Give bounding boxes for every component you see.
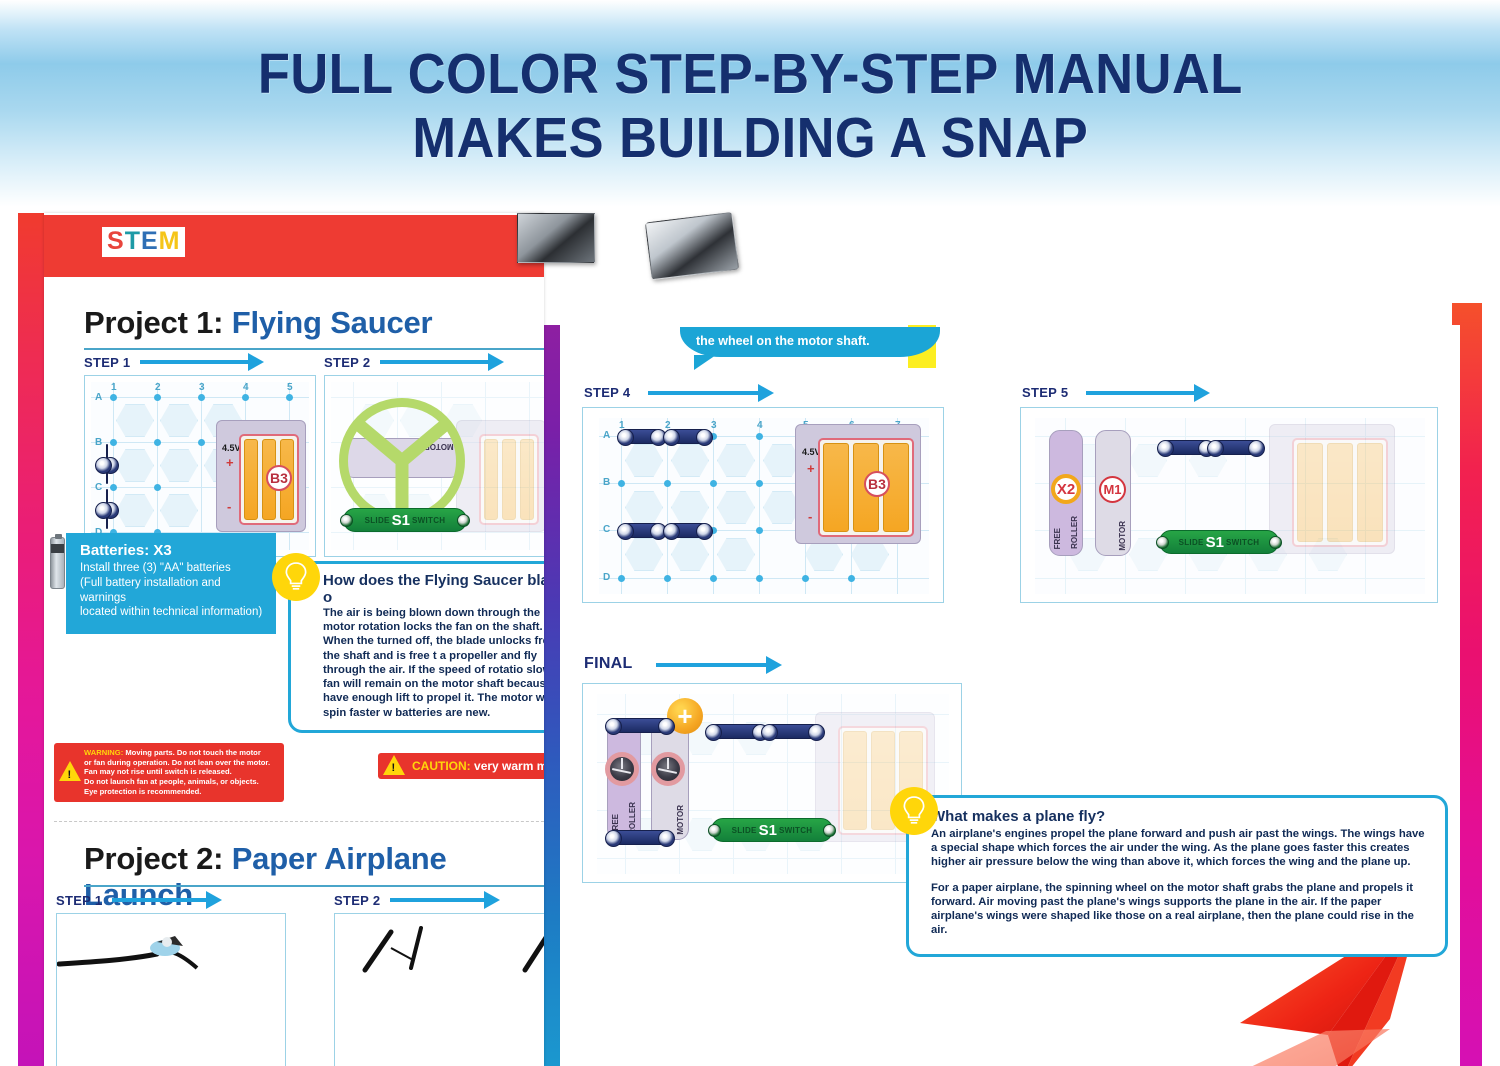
lightbulb-glyph-2	[901, 796, 927, 826]
warning-triangle-icon	[59, 761, 81, 781]
project2-title: Project 2: Paper Airplane Launch	[84, 841, 544, 913]
page-title: FULL COLOR STEP-BY-STEP MANUAL MAKES BUI…	[258, 43, 1243, 171]
r-grid-row-a: A	[603, 430, 610, 441]
manual-spread: STEM Project 1: Flying Saucer STEP 1 1	[0, 213, 1500, 1066]
manual-page-right: the wheel on the motor shaft. STEP 4 1 2…	[560, 325, 1460, 1066]
final-motor-label: MOTOR	[676, 805, 685, 835]
grid-col-2: 2	[155, 382, 161, 393]
step-arrow-2	[380, 360, 490, 364]
battery-id-b3: B3	[266, 465, 292, 491]
project1-label: Project 1:	[84, 305, 223, 340]
free-roller-id-x2: X2	[1051, 474, 1081, 504]
project2-rule	[84, 885, 544, 887]
batteries-callout-line1: Install three (3) "AA" batteries	[80, 562, 231, 574]
stem-logo: STEM	[102, 227, 185, 257]
r-grid-row-c: C	[603, 524, 610, 535]
step-arrow-5	[1086, 391, 1196, 395]
headline-line-1: FULL COLOR STEP-BY-STEP MANUAL	[258, 42, 1243, 106]
step-label-final: FINAL	[584, 655, 633, 673]
step2-panel: MOTOR SLIDE S1 SWITCH	[324, 375, 544, 557]
grid-row-b: B	[95, 437, 102, 448]
p2-step-arrow-1	[112, 898, 208, 902]
lightbulb-icon-2	[890, 787, 938, 835]
caution-triangle-icon	[383, 755, 405, 775]
step1-circuit-grid: 1 2 3 4 5 A B C D	[91, 382, 309, 550]
switch-left-label: SLIDE	[365, 516, 390, 525]
plane-callout-para1: An airplane's engines propel the plane f…	[931, 827, 1431, 870]
grid-col-4: 4	[243, 382, 249, 393]
warning-title: WARNING:	[84, 748, 123, 757]
warning-line-5: Eye protection is recommended.	[84, 787, 201, 796]
warning-box: WARNING: Moving parts. Do not touch the …	[54, 743, 284, 802]
flying-saucer-explain-callout: How does the Flying Saucer blast o The a…	[288, 561, 544, 733]
stem-letter-t: T	[125, 227, 141, 255]
step-arrow-final	[656, 663, 768, 667]
grid-row-a: A	[95, 392, 102, 403]
stem-letter-s: S	[107, 227, 125, 255]
battery-plus: +	[226, 455, 234, 470]
warning-line-3: Fan may not rise until switch is release…	[84, 767, 232, 776]
step-arrow-4	[648, 391, 760, 395]
p2-step-label-2: STEP 2	[334, 893, 380, 908]
step5-motor-label: MOTOR	[1118, 521, 1127, 551]
hand-launch-sketch-2	[335, 918, 544, 978]
section-divider	[54, 821, 544, 822]
p2-step1-panel	[56, 913, 286, 1066]
step5-slide-switch: SLIDE S1 SWITCH	[1159, 530, 1279, 554]
f-switch-right: SWITCH	[779, 826, 812, 835]
r-switch-right: SWITCH	[1226, 538, 1259, 547]
plane-callout-title: What makes a plane fly?	[931, 808, 1431, 825]
motor-shaft-speech-bubble: the wheel on the motor shaft.	[680, 327, 940, 357]
r-battery-plus: +	[807, 461, 815, 476]
product-photo-2	[645, 212, 739, 280]
grid-col-1: 1	[111, 382, 117, 393]
free-roller-label-left: FREE	[1053, 528, 1062, 549]
headline-line-2: MAKES BUILDING A SNAP	[412, 106, 1088, 170]
hand-launch-sketch-1	[57, 918, 287, 978]
p2-step-arrow-2	[390, 898, 486, 902]
step4-battery-module: 4.5V + - B3	[795, 424, 921, 544]
caution-text: very warm moto	[474, 759, 544, 773]
step-label-1: STEP 1	[84, 355, 130, 370]
explain-body: The air is being blown down through the …	[323, 606, 544, 720]
promo-image-root: FULL COLOR STEP-BY-STEP MANUAL MAKES BUI…	[0, 0, 1500, 1066]
final-panel: FREE ROLLER MOTOR + SLIDE S1 SWITCH	[582, 683, 962, 883]
lightbulb-glyph	[283, 562, 309, 592]
step-label-4: STEP 4	[584, 385, 630, 400]
batteries-callout-line2: (Full battery installation and warnings	[80, 577, 221, 604]
r-grid-row-b: B	[603, 477, 610, 488]
stem-letter-e: E	[141, 227, 159, 255]
final-slide-switch: SLIDE S1 SWITCH	[711, 818, 833, 842]
project2-label: Project 2:	[84, 841, 223, 876]
switch-id: S1	[392, 512, 410, 529]
battery-voltage-label: 4.5V	[222, 443, 241, 453]
grid-row-c: C	[95, 482, 102, 493]
f-switch-id: S1	[759, 822, 777, 839]
r-switch-id: S1	[1206, 534, 1224, 551]
switch-right-label: SWITCH	[412, 516, 445, 525]
free-roller-label-right: ROLLER	[1070, 516, 1079, 549]
motor-id-m1: M1	[1099, 476, 1126, 503]
roller-wheel-left	[605, 752, 639, 786]
r-switch-left: SLIDE	[1179, 538, 1204, 547]
step1-panel: 1 2 3 4 5 A B C D	[84, 375, 316, 557]
step5-battery-ghost	[1269, 424, 1395, 554]
step2-battery-ghost	[456, 420, 544, 532]
step5-panel: FREE ROLLER X2 MOTOR M1 SLIDE S1 SWITCH	[1020, 407, 1438, 603]
product-photo-1	[517, 213, 595, 263]
grid-col-5: 5	[287, 382, 293, 393]
f-switch-left: SLIDE	[732, 826, 757, 835]
grid-col-3: 3	[199, 382, 205, 393]
r-grid-col-4: 4	[757, 420, 763, 431]
caution-title: CAUTION:	[412, 759, 471, 773]
step-label-2: STEP 2	[324, 355, 370, 370]
step4-circuit-grid: 1 2 3 4 5 6 7 A B C D	[599, 418, 929, 594]
batteries-callout-line3: located within technical information)	[80, 606, 262, 618]
roller-wheel-right	[651, 752, 685, 786]
plane-callout-para2: For a paper airplane, the spinning wheel…	[931, 881, 1431, 938]
step-arrow-1	[140, 360, 250, 364]
step-label-5: STEP 5	[1022, 385, 1068, 400]
warning-line-2: or fan during operation. Do not lean ove…	[84, 758, 270, 767]
r-grid-col-3: 3	[711, 420, 717, 431]
batteries-callout-title: Batteries: X3	[80, 541, 264, 560]
battery-module-b3: 4.5V + - B3	[216, 420, 306, 532]
batteries-callout: Batteries: X3 Install three (3) "AA" bat…	[66, 533, 276, 634]
slide-switch-s1: SLIDE S1 SWITCH	[343, 508, 467, 532]
manual-page-left: STEM Project 1: Flying Saucer STEP 1 1	[44, 213, 544, 1066]
battery-minus: -	[227, 499, 231, 514]
project1-title: Project 1: Flying Saucer	[84, 305, 432, 341]
r-grid-row-d: D	[603, 572, 610, 583]
warning-line-4: Do not launch fan at people, animals, or…	[84, 777, 259, 786]
r-battery-id: B3	[864, 471, 890, 497]
plane-fly-callout: What makes a plane fly? An airplane's en…	[906, 795, 1448, 957]
aa-battery-icon	[50, 537, 65, 589]
project1-name: Flying Saucer	[232, 305, 433, 340]
project1-rule	[84, 348, 544, 350]
fan-blade-art	[339, 398, 465, 524]
p2-step-label-1: STEP 1	[56, 893, 102, 908]
explain-title: How does the Flying Saucer blast o	[323, 572, 544, 606]
warning-line-1: Moving parts. Do not touch the motor	[125, 748, 260, 757]
p2-step2-panel	[334, 913, 544, 1066]
step4-panel: 1 2 3 4 5 6 7 A B C D	[582, 407, 944, 603]
lightbulb-icon	[272, 553, 320, 601]
r-battery-minus: -	[808, 509, 812, 524]
promo-header: FULL COLOR STEP-BY-STEP MANUAL MAKES BUI…	[0, 0, 1500, 213]
stem-letter-m: M	[159, 227, 181, 255]
caution-box: CAUTION: very warm moto	[378, 753, 544, 779]
speech-bubble-text: the wheel on the motor shaft.	[696, 334, 870, 348]
